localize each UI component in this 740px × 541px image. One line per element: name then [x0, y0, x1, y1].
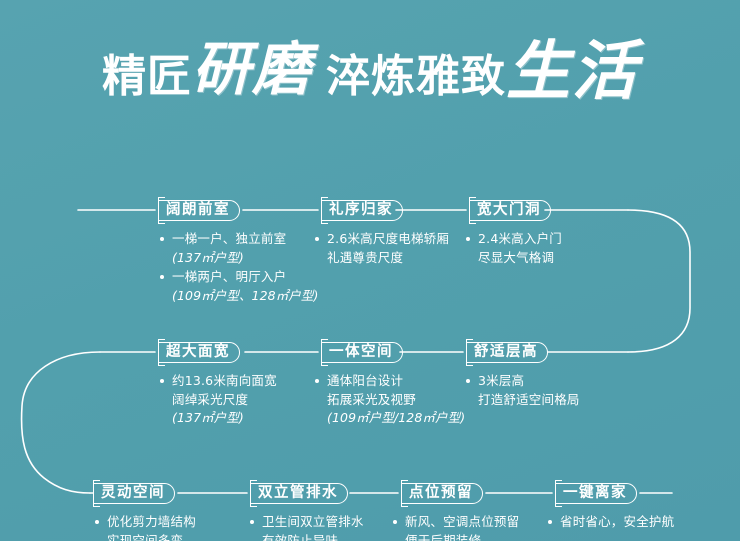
headline-part-1: 精匠 — [102, 55, 192, 99]
bullet-line-1: 2.4米高入户门 — [478, 230, 562, 249]
bullet-line-1: 约13.6米南向面宽 — [172, 372, 277, 391]
card-tag-lixuguijia[interactable]: 礼序归家 — [321, 200, 403, 221]
bullet-line-2: 实现空间多变 — [107, 532, 196, 541]
list-item: 新风、空调点位预留 便于后期装修 — [393, 513, 519, 541]
bullet-line-1: 3米层高 — [478, 372, 580, 391]
list-item: 一梯一户、独立前室 (137㎡户型) — [160, 230, 318, 267]
card-tag-label: 礼序归家 — [329, 202, 393, 218]
card-body-lingdongkongjian: 优化剪力墙结构 实现空间多变 — [95, 513, 196, 541]
bullet-line-2: 尽显大气格调 — [478, 249, 562, 268]
list-item: 3米层高 打造舒适空间格局 — [466, 372, 580, 409]
card-body-dianweiyuliu: 新风、空调点位预留 便于后期装修 — [393, 513, 519, 541]
card-tag-label: 舒适层高 — [474, 344, 538, 360]
bullet-line-1: 通体阳台设计 — [327, 372, 465, 391]
bullet-line-1: 2.6米高尺度电梯轿厢 — [327, 230, 449, 249]
bullet-line-2: 有效防止异味 — [262, 532, 364, 541]
bullet-dot-icon — [160, 379, 164, 383]
card-tag-shushicenggao[interactable]: 舒适层高 — [466, 342, 548, 363]
bullet-line-1: 卫生间双立管排水 — [262, 513, 364, 532]
bullet-dot-icon — [466, 237, 470, 241]
headline-part-3: 淬炼雅致 — [326, 55, 506, 99]
card-body-shuangliguanpaishui: 卫生间双立管排水 有效防止异味 — [250, 513, 364, 541]
bullet-dot-icon — [548, 520, 552, 524]
headline-part-4: 生活 — [506, 40, 638, 104]
bullet-line-1: 优化剪力墙结构 — [107, 513, 196, 532]
card-tag-label: 点位预留 — [409, 485, 473, 501]
bullet-dot-icon — [95, 520, 99, 524]
card-tag-label: 双立管排水 — [258, 485, 338, 501]
bullet-line-2: 阔绰采光尺度 — [172, 391, 277, 410]
bullet-line-2: 礼遇尊贵尺度 — [327, 249, 449, 268]
list-item: 通体阳台设计 拓展采光及视野 (109㎡户型/128㎡户型) — [315, 372, 465, 428]
card-tag-label: 一体空间 — [329, 344, 393, 360]
card-tag-label: 宽大门洞 — [477, 202, 541, 218]
list-item: 优化剪力墙结构 实现空间多变 — [95, 513, 196, 541]
connector-left-uturn — [22, 352, 100, 493]
bullet-line-2: 打造舒适空间格局 — [478, 391, 580, 410]
card-body-yitikongjian: 通体阳台设计 拓展采光及视野 (109㎡户型/128㎡户型) — [315, 372, 465, 429]
card-body-yijianlijia: 省时省心，安全护航 — [548, 513, 674, 533]
bullet-line-3: (109㎡户型/128㎡户型) — [327, 409, 465, 428]
bullet-dot-icon — [393, 520, 397, 524]
card-tag-shuanglìguanpaishui[interactable]: 双立管排水 — [250, 483, 348, 504]
bullet-line-1: 新风、空调点位预留 — [405, 513, 519, 532]
card-tag-kuandamendong[interactable]: 宽大门洞 — [469, 200, 551, 221]
card-tag-label: 超大面宽 — [166, 344, 230, 360]
page-title: 精匠研磨淬炼雅致生活 — [0, 34, 740, 98]
bullet-dot-icon — [466, 379, 470, 383]
card-tag-lingdongkongjian[interactable]: 灵动空间 — [93, 483, 175, 504]
card-tag-kuolangqianshi[interactable]: 阔朗前室 — [158, 200, 240, 221]
card-body-kuolangqianshi: 一梯一户、独立前室 (137㎡户型) 一梯两户、明厅入户 (109㎡户型、128… — [160, 230, 318, 306]
bullet-line-2: 拓展采光及视野 — [327, 391, 465, 410]
poster-root: 精匠研磨淬炼雅致生活 阔朗前室 — [0, 0, 740, 541]
bullet-dot-icon — [160, 237, 164, 241]
card-tag-label: 灵动空间 — [101, 485, 165, 501]
card-body-lixuguijia: 2.6米高尺度电梯轿厢 礼遇尊贵尺度 — [315, 230, 449, 268]
bullet-line-1: 一梯两户、明厅入户 — [172, 268, 318, 287]
bullet-dot-icon — [160, 275, 164, 279]
headline-part-2: 研磨 — [192, 40, 312, 98]
card-tag-dianweiyuliu[interactable]: 点位预留 — [401, 483, 483, 504]
connector-right-uturn — [628, 210, 690, 352]
card-tag-yitikongjian[interactable]: 一体空间 — [321, 342, 403, 363]
card-body-kuandamendong: 2.4米高入户门 尽显大气格调 — [466, 230, 562, 268]
list-item: 省时省心，安全护航 — [548, 513, 674, 532]
bullet-dot-icon — [315, 237, 319, 241]
bullet-dot-icon — [315, 379, 319, 383]
card-body-chaodamiankuan: 约13.6米南向面宽 阔绰采光尺度 (137㎡户型) — [160, 372, 277, 429]
list-item: 约13.6米南向面宽 阔绰采光尺度 (137㎡户型) — [160, 372, 277, 428]
bullet-line-1: 省时省心，安全护航 — [560, 513, 674, 532]
card-tag-chaodamiankuan[interactable]: 超大面宽 — [158, 342, 240, 363]
card-body-shushicenggao: 3米层高 打造舒适空间格局 — [466, 372, 580, 410]
bullet-dot-icon — [250, 520, 254, 524]
list-item: 2.4米高入户门 尽显大气格调 — [466, 230, 562, 267]
bullet-line-2: (137㎡户型) — [172, 249, 318, 268]
card-tag-label: 阔朗前室 — [166, 202, 230, 218]
list-item: 2.6米高尺度电梯轿厢 礼遇尊贵尺度 — [315, 230, 449, 267]
list-item: 卫生间双立管排水 有效防止异味 — [250, 513, 364, 541]
bullet-line-3: (137㎡户型) — [172, 409, 277, 428]
card-tag-yijianlijia[interactable]: 一键离家 — [555, 483, 637, 504]
bullet-line-2: 便于后期装修 — [405, 532, 519, 541]
card-tag-label: 一键离家 — [563, 485, 627, 501]
bullet-line-2: (109㎡户型、128㎡户型) — [172, 287, 318, 306]
list-item: 一梯两户、明厅入户 (109㎡户型、128㎡户型) — [160, 268, 318, 305]
bullet-line-1: 一梯一户、独立前室 — [172, 230, 318, 249]
